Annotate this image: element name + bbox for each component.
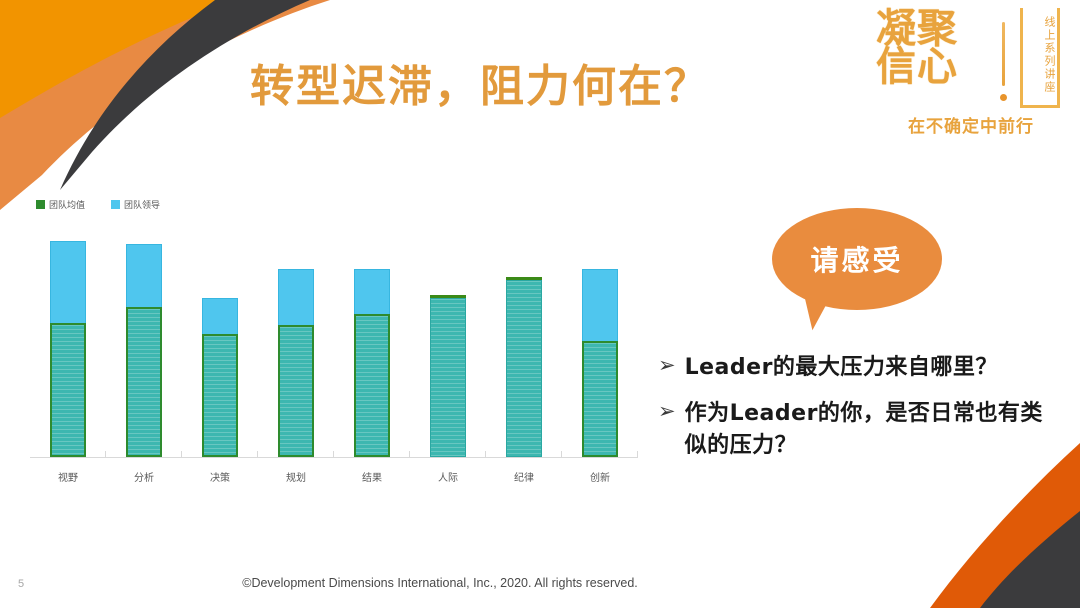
bullet-item-2: ➢作为Leader的你，是否日常也有类似的压力？ [658,398,1058,462]
chart-category-1 [30,230,106,457]
chart-plot-area: 视野分析决策规划结果人际纪律创新 [22,230,642,498]
category-label-6: 人际 [410,469,486,484]
page-title: 转型迟滞，阻力何在？ [0,50,1080,114]
category-label-5: 结果 [334,469,410,484]
bar-group [126,244,162,457]
bar-segment-leader [430,298,466,457]
category-label-7: 纪律 [486,469,562,484]
bullet-item-1: ➢Leader的最大压力来自哪里？ [658,352,1058,384]
chart-category-5 [334,230,410,457]
logo-subtitle: 在不确定中前行 [876,112,1066,137]
chart-category-7 [486,230,562,457]
bar-chart: 团队均值 团队领导 视野分析决策规划结果人际纪律创新 [22,190,642,530]
category-label-2: 分析 [106,469,182,484]
bullet-text: 作为Leader的你，是否日常也有类似的压力？ [685,398,1058,462]
category-label-1: 视野 [30,469,106,484]
chart-category-2 [106,230,182,457]
copyright-notice: ©Development Dimensions International, I… [0,576,1080,590]
chart-x-axis [30,457,638,458]
chart-legend: 团队均值 团队领导 [36,198,160,211]
chart-category-3 [182,230,258,457]
chart-bars-container [30,230,638,457]
chart-category-8 [562,230,638,457]
category-label-4: 规划 [258,469,334,484]
callout-bubble: 请感受 [772,208,942,310]
bar-group [354,269,390,457]
bar-segment-team-average [126,307,162,457]
chart-category-4 [258,230,334,457]
chart-category-6 [410,230,486,457]
legend-item-team-leader: 团队领导 [111,198,160,211]
bar-segment-gap-highlight [430,295,466,298]
bar-group [506,280,542,457]
legend-swatch-blue [111,200,120,209]
bullet-list: ➢Leader的最大压力来自哪里？➢作为Leader的你，是否日常也有类似的压力… [658,352,1058,476]
category-label-3: 决策 [182,469,258,484]
callout-bubble-body: 请感受 [772,208,942,310]
bar-group [202,298,238,457]
legend-swatch-green [36,200,45,209]
bullet-arrow-icon: ➢ [658,352,676,378]
bar-segment-gap-highlight [506,277,542,280]
category-label-8: 创新 [562,469,638,484]
bar-segment-team-average [202,334,238,457]
callout-bubble-text: 请感受 [810,239,903,279]
bar-group [278,269,314,457]
legend-label-team-average: 团队均值 [49,198,85,211]
bar-segment-leader [506,280,542,457]
bullet-arrow-icon: ➢ [658,398,676,424]
bar-group [582,269,618,457]
bullet-text: Leader的最大压力来自哪里？ [685,352,998,384]
legend-label-team-leader: 团队领导 [124,198,160,211]
legend-item-team-average: 团队均值 [36,198,85,211]
slide: 凝聚 信心 线上系列讲座 在不确定中前行 转型迟滞，阻力何在？ 团队均值 团队领… [0,0,1080,608]
bar-segment-team-average [582,341,618,457]
bar-segment-team-average [354,314,390,457]
axis-tick [637,451,638,458]
bar-segment-team-average [50,323,86,457]
bar-group [50,241,86,457]
bar-group [430,298,466,457]
bar-segment-team-average [278,325,314,457]
